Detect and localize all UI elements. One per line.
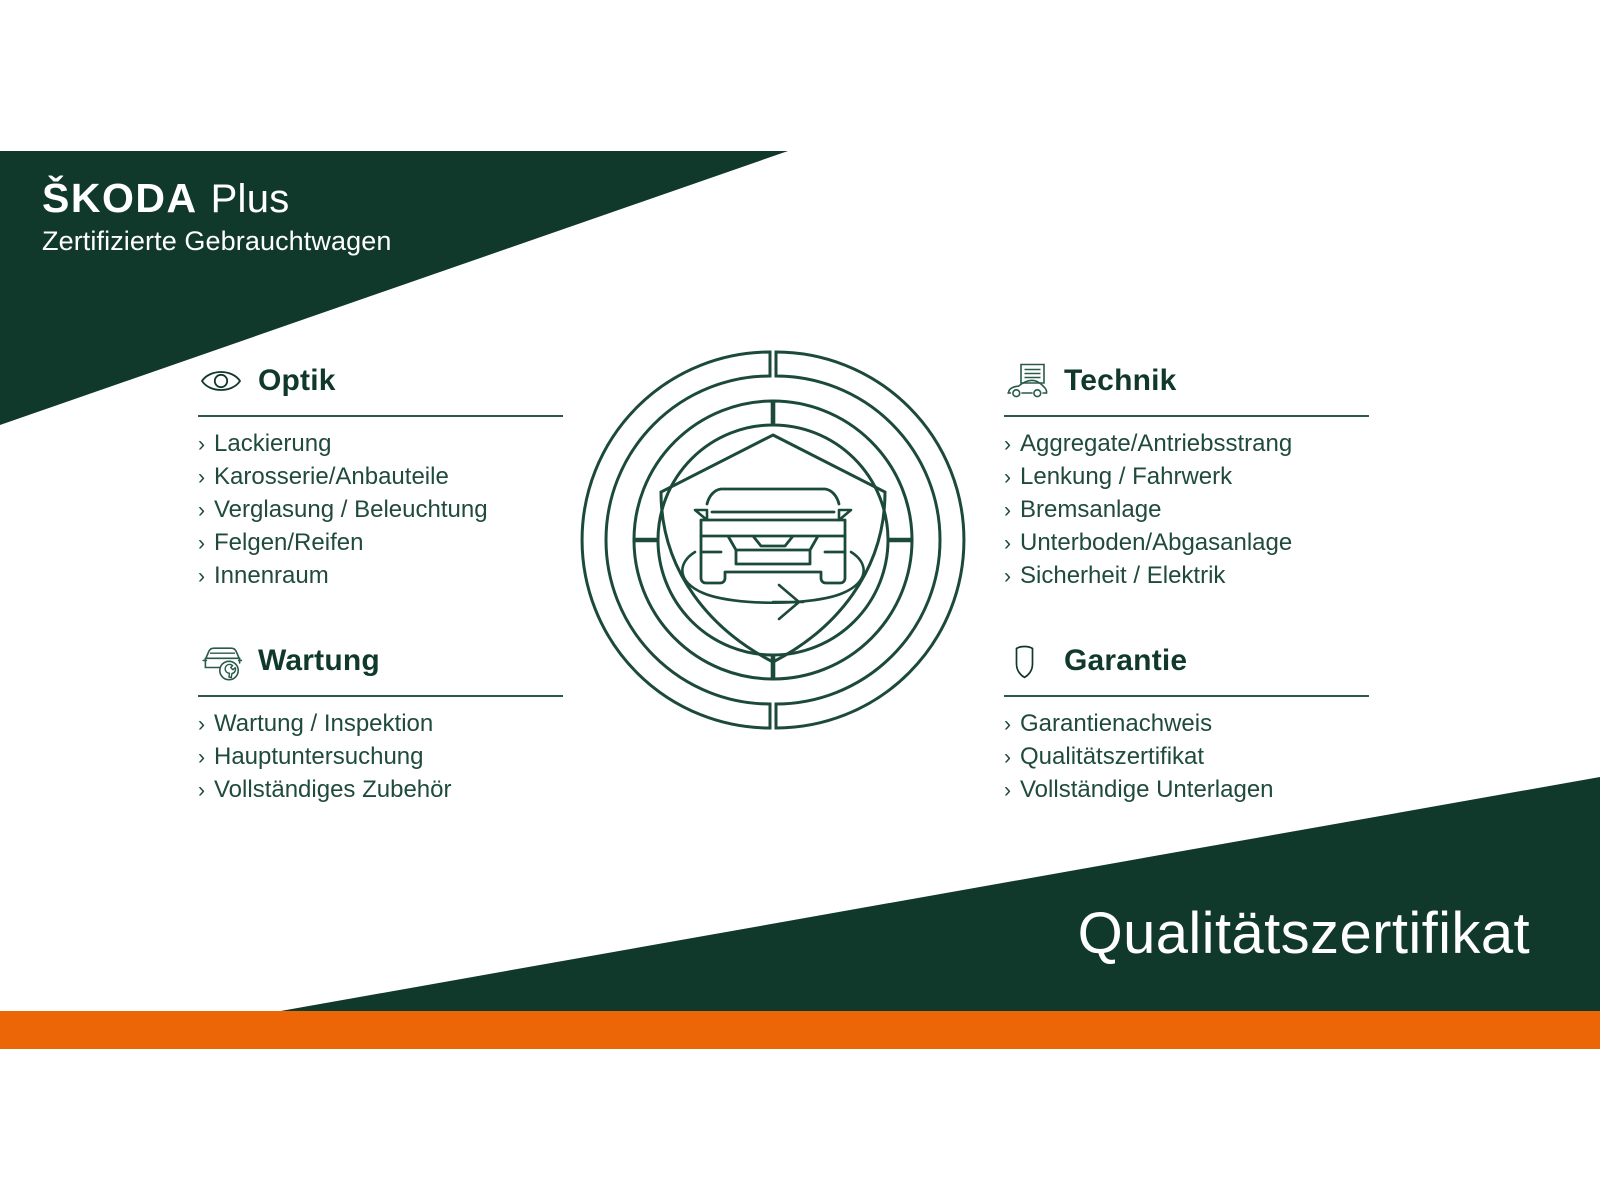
car-mirror-right	[839, 510, 851, 520]
list-item: ›Wartung / Inspektion	[198, 708, 563, 741]
chevron-icon: ›	[198, 462, 205, 494]
section-optik: Optik ›Lackierung ›Karosserie/Anbauteile…	[198, 358, 563, 593]
brand-skoda-text: ŠKODA	[42, 178, 198, 219]
section-garantie-title: Garantie	[1064, 644, 1187, 678]
car-wrench-icon	[198, 640, 244, 682]
chevron-icon: ›	[198, 528, 205, 560]
list-item-label: Sicherheit / Elektrik	[1020, 560, 1225, 592]
list-item: ›Innenraum	[198, 560, 563, 593]
car-bumper-upper	[728, 536, 818, 550]
list-item: ›Vollständige Unterlagen	[1004, 774, 1369, 807]
section-optik-header: Optik	[198, 358, 563, 404]
list-item: ›Unterboden/Abgasanlage	[1004, 527, 1369, 560]
list-item: ›Lenkung / Fahrwerk	[1004, 461, 1369, 494]
section-optik-list: ›Lackierung ›Karosserie/Anbauteile ›Verg…	[198, 428, 563, 593]
brand-wordmark: ŠKODA Plus	[42, 178, 391, 219]
chevron-icon: ›	[198, 429, 205, 461]
brand-logo: ŠKODA Plus Zertifizierte Gebrauchtwagen	[42, 178, 391, 257]
list-item: ›Hauptuntersuchung	[198, 741, 563, 774]
brand-plus-text: Plus	[211, 179, 290, 219]
chevron-icon: ›	[1004, 561, 1011, 593]
section-garantie-header: Garantie	[1004, 638, 1369, 684]
car-grille-notch	[753, 536, 793, 546]
outer-ring-left	[582, 352, 770, 728]
list-item: ›Qualitätszertifikat	[1004, 741, 1369, 774]
orange-bar	[0, 1011, 1600, 1049]
certificate-canvas: ŠKODA Plus Zertifizierte Gebrauchtwagen …	[0, 0, 1600, 1200]
chevron-icon: ›	[198, 742, 205, 774]
section-optik-rule	[198, 415, 563, 417]
outer-ring-right	[776, 352, 964, 728]
eye-icon	[198, 360, 244, 402]
chevron-icon: ›	[1004, 528, 1011, 560]
section-technik-list: ›Aggregate/Antriebsstrang ›Lenkung / Fah…	[1004, 428, 1369, 593]
list-item-label: Bremsanlage	[1020, 494, 1161, 526]
section-technik: Technik ›Aggregate/Antriebsstrang ›Lenku…	[1004, 358, 1369, 593]
list-item: ›Verglasung / Beleuchtung	[198, 494, 563, 527]
footer-title: Qualitätszertifikat	[1078, 900, 1530, 967]
chevron-icon: ›	[198, 561, 205, 593]
brand-subtitle: Zertifizierte Gebrauchtwagen	[42, 226, 391, 257]
list-item: ›Aggregate/Antriebsstrang	[1004, 428, 1369, 461]
section-wartung-header: Wartung	[198, 638, 563, 684]
list-item: ›Sicherheit / Elektrik	[1004, 560, 1369, 593]
list-item-label: Lenkung / Fahrwerk	[1020, 461, 1232, 493]
section-garantie-list: ›Garantienachweis ›Qualitätszertifikat ›…	[1004, 708, 1369, 807]
section-garantie-rule	[1004, 695, 1369, 697]
list-item-label: Qualitätszertifikat	[1020, 741, 1204, 773]
section-garantie: Garantie ›Garantienachweis ›Qualitätszer…	[1004, 638, 1369, 807]
chevron-icon: ›	[1004, 709, 1011, 741]
section-wartung-list: ›Wartung / Inspektion ›Hauptuntersuchung…	[198, 708, 563, 807]
certified-vehicle-emblem	[573, 340, 973, 740]
section-technik-header: Technik	[1004, 358, 1369, 404]
list-item-label: Garantienachweis	[1020, 708, 1212, 740]
shield-icon	[1004, 640, 1050, 682]
list-item-label: Aggregate/Antriebsstrang	[1020, 428, 1292, 460]
list-item-label: Verglasung / Beleuchtung	[214, 494, 488, 526]
chevron-icon: ›	[198, 775, 205, 807]
car-bumper-lower	[736, 550, 810, 564]
list-item-label: Felgen/Reifen	[214, 527, 363, 559]
chevron-icon: ›	[198, 495, 205, 527]
car-document-icon	[1004, 360, 1050, 402]
list-item-label: Vollständige Unterlagen	[1020, 774, 1274, 806]
section-wartung-rule	[198, 695, 563, 697]
bottom-green-wedge	[275, 777, 1600, 1012]
list-item-label: Hauptuntersuchung	[214, 741, 423, 773]
car-body	[701, 520, 845, 583]
list-item-label: Karosserie/Anbauteile	[214, 461, 449, 493]
chevron-icon: ›	[1004, 775, 1011, 807]
section-wartung-title: Wartung	[258, 644, 380, 678]
section-wartung: Wartung ›Wartung / Inspektion ›Hauptunte…	[198, 638, 563, 807]
chevron-icon: ›	[198, 709, 205, 741]
list-item: ›Garantienachweis	[1004, 708, 1369, 741]
list-item: ›Felgen/Reifen	[198, 527, 563, 560]
chevron-icon: ›	[1004, 462, 1011, 494]
chevron-icon: ›	[1004, 742, 1011, 774]
section-technik-title: Technik	[1064, 364, 1177, 398]
shield-outline	[661, 435, 885, 662]
list-item: ›Lackierung	[198, 428, 563, 461]
list-item: ›Bremsanlage	[1004, 494, 1369, 527]
list-item: ›Vollständiges Zubehör	[198, 774, 563, 807]
list-item-label: Lackierung	[214, 428, 331, 460]
section-optik-title: Optik	[258, 364, 336, 398]
car-mirror-left	[695, 510, 707, 520]
list-item-label: Innenraum	[214, 560, 329, 592]
chevron-icon: ›	[1004, 429, 1011, 461]
section-technik-rule	[1004, 415, 1369, 417]
list-item-label: Vollständiges Zubehör	[214, 774, 452, 806]
car-roof	[707, 489, 839, 504]
list-item-label: Wartung / Inspektion	[214, 708, 433, 740]
list-item: ›Karosserie/Anbauteile	[198, 461, 563, 494]
list-item-label: Unterboden/Abgasanlage	[1020, 527, 1292, 559]
chevron-icon: ›	[1004, 495, 1011, 527]
